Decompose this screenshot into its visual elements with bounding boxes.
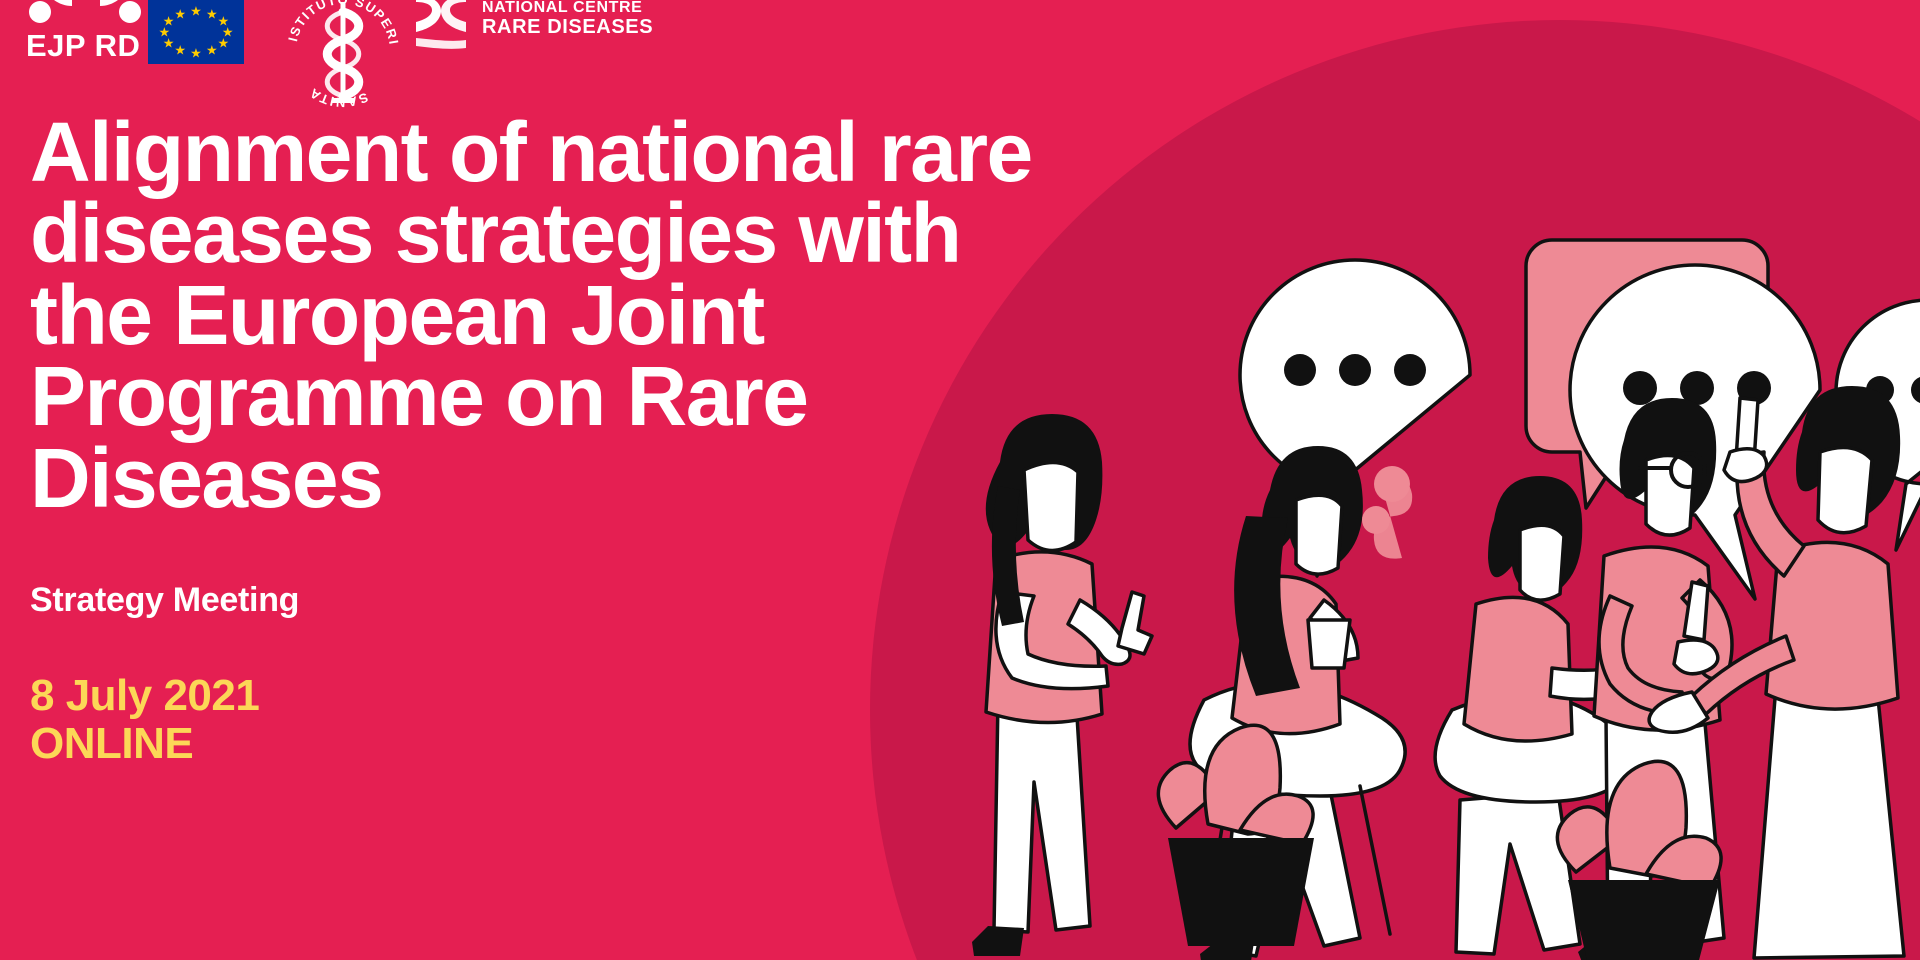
logo-ncrd-text: NATIONAL CENTRE RARE DISEASES xyxy=(482,0,653,38)
person-seated-woman-cup xyxy=(1190,446,1412,960)
speech-bubble-white-left xyxy=(1240,260,1470,576)
speech-bubble-pink xyxy=(1526,240,1768,508)
logo-ejprd: EJP RD xyxy=(26,0,146,61)
logo-ncrd-line2: RARE DISEASES xyxy=(482,17,653,38)
person-seated-man-center xyxy=(1435,476,1656,954)
potted-plant-right xyxy=(1557,761,1721,960)
event-date: 8 July 2021 xyxy=(30,672,1110,720)
helix-ribbon-icon xyxy=(410,0,472,50)
banner-text-column: Alignment of national rare diseases stra… xyxy=(30,112,1110,767)
person-standing-man-glasses xyxy=(1578,398,1732,960)
logo-istituto-superiore-sanita: ISTITUTO SUPERIORE SANITA xyxy=(278,0,408,116)
logo-strip: EJP RD ★ ★ ★ ★ ★ ★ ★ ★ ★ ★ ★ ★ xyxy=(0,0,1920,74)
logo-ncrd-line1: NATIONAL CENTRE xyxy=(482,0,653,17)
caduceus-seal-icon: ISTITUTO SUPERIORE SANITA xyxy=(278,0,408,116)
logo-national-centre-rare-diseases: NATIONAL CENTRE RARE DISEASES xyxy=(410,0,653,50)
event-banner: EJP RD ★ ★ ★ ★ ★ ★ ★ ★ ★ ★ ★ ★ xyxy=(0,0,1920,960)
event-location: ONLINE xyxy=(30,720,1110,768)
logo-ejprd-wordmark: EJP RD xyxy=(26,30,146,61)
speech-bubble-white-right xyxy=(1836,300,1920,550)
person-standing-woman-right xyxy=(1649,386,1904,958)
speech-bubble-white-center xyxy=(1570,265,1820,599)
logo-eu-flag: ★ ★ ★ ★ ★ ★ ★ ★ ★ ★ ★ ★ xyxy=(148,0,244,64)
eu-flag-icon: ★ ★ ★ ★ ★ ★ ★ ★ ★ ★ ★ ★ xyxy=(148,0,244,64)
event-meta: 8 July 2021 ONLINE xyxy=(30,672,1110,767)
event-headline: Alignment of national rare diseases stra… xyxy=(30,112,1090,519)
two-people-mark-icon xyxy=(26,0,146,28)
event-subtitle: Strategy Meeting xyxy=(30,581,1110,620)
potted-plant-left xyxy=(1158,725,1314,946)
